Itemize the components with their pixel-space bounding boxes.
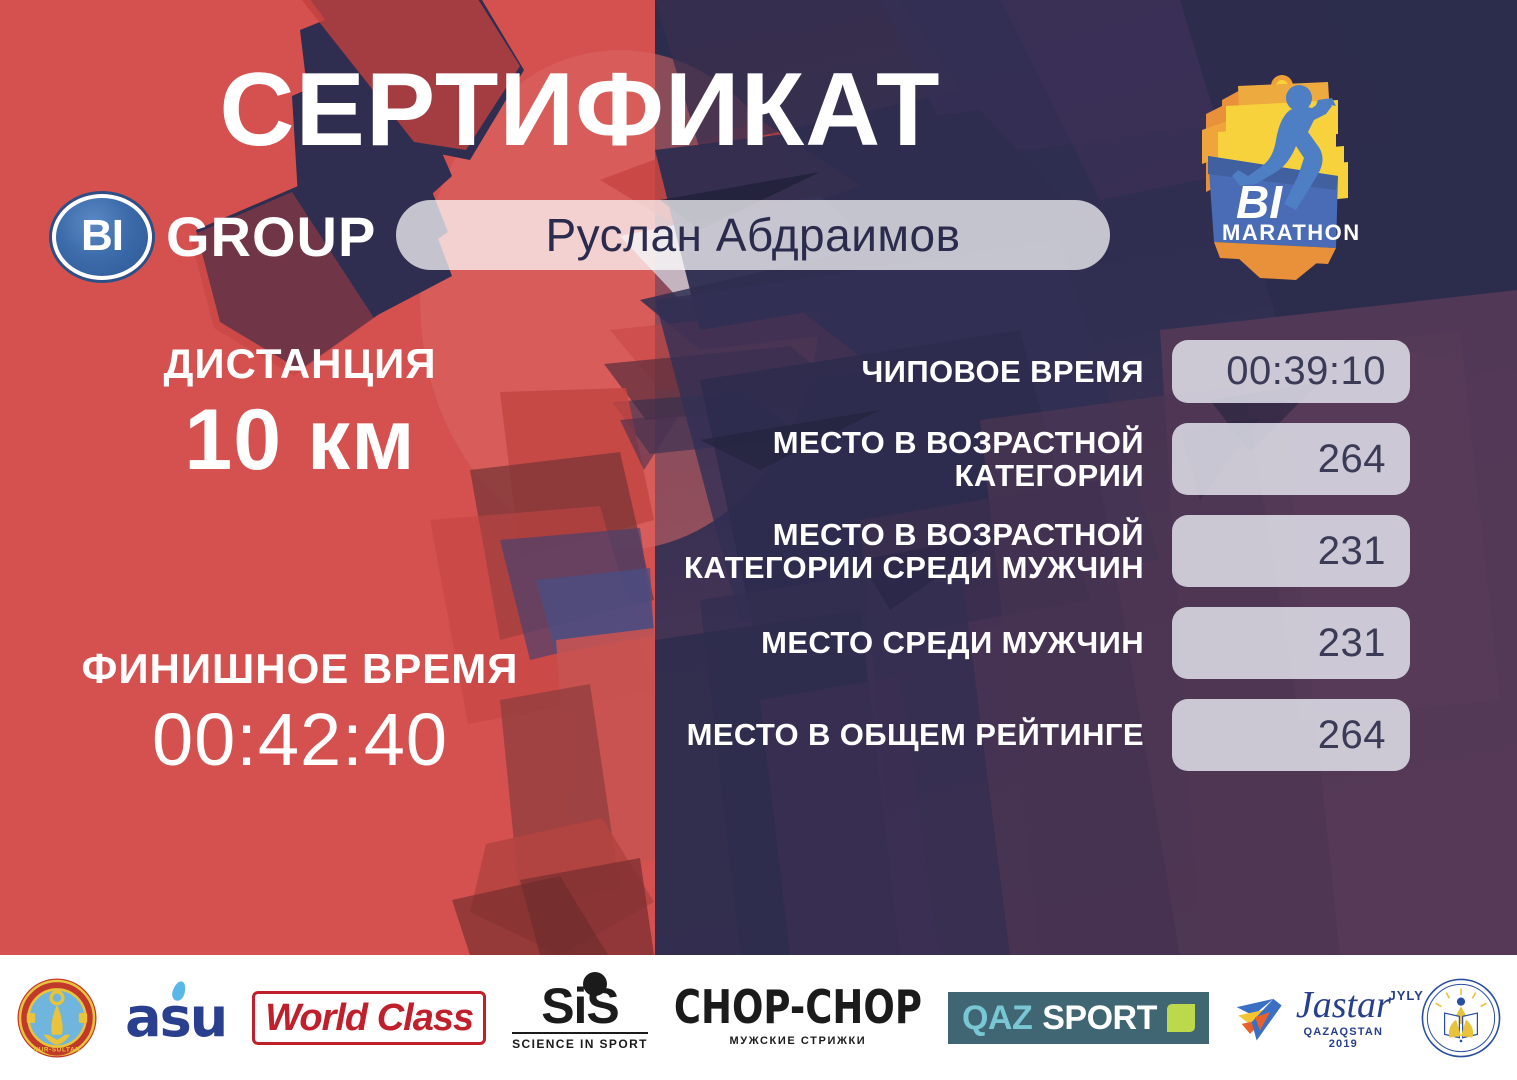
bi-marathon-logo: BI MARATHON xyxy=(1178,58,1393,298)
sis-runner-icon xyxy=(583,972,607,996)
chip-time-label: ЧИПОВОЕ ВРЕМЯ xyxy=(600,355,1172,388)
jastar-wordmark: Jastar xyxy=(1293,986,1394,1024)
participant-name-bar: Руслан Абдраимов xyxy=(396,200,1110,270)
chip-time-box: 00:39:10 xyxy=(1172,340,1410,403)
jastar-text: Jastar QAZAQSTAN 2019 JYLY xyxy=(1293,986,1394,1050)
distance-label: ДИСТАНЦИЯ xyxy=(40,340,560,387)
sis-logo-mark: SiS xyxy=(512,984,648,1029)
sponsor-nur-sultan: NUR-SULTAN xyxy=(15,968,99,1068)
sponsor-jastar-jyly: Jastar QAZAQSTAN 2019 JYLY xyxy=(1235,968,1394,1068)
overall-place-label: МЕСТО В ОБЩЕМ РЕЙТИНГЕ xyxy=(600,718,1172,751)
chop-chop-logo: CHOP-CHOP МУЖСКИЕ СТРИЖКИ xyxy=(674,989,922,1047)
result-row: ЧИПОВОЕ ВРЕМЯ 00:39:10 xyxy=(600,340,1410,403)
chop-chop-logo-tagline: МУЖСКИЕ СТРИЖКИ xyxy=(674,1035,922,1047)
overall-place-value: 264 xyxy=(1318,713,1386,758)
age-category-men-place-label: МЕСТО В ВОЗРАСТНОЙ КАТЕГОРИИ СРЕДИ МУЖЧИ… xyxy=(600,518,1172,584)
age-category-place-value: 264 xyxy=(1318,437,1386,482)
qazsport-logo-text-1: QAZ xyxy=(962,1001,1032,1035)
participant-name: Руслан Абдраимов xyxy=(545,208,960,262)
result-row: МЕСТО В ОБЩЕМ РЕЙТИНГЕ 264 xyxy=(600,699,1410,771)
age-category-men-place-value: 231 xyxy=(1318,529,1386,574)
bi-group-logo-text: GROUP xyxy=(166,209,376,265)
page-title: СЕРТИФИКАТ xyxy=(0,58,1160,162)
finish-time-value: 00:42:40 xyxy=(40,699,560,780)
result-row: МЕСТО В ВОЗРАСТНОЙ КАТЕГОРИИ 264 xyxy=(600,423,1410,495)
results-list: ЧИПОВОЕ ВРЕМЯ 00:39:10 МЕСТО В ВОЗРАСТНО… xyxy=(600,340,1410,771)
sis-logo: SiS SCIENCE IN SPORT xyxy=(512,984,648,1051)
sponsor-asu: asu xyxy=(125,968,226,1068)
bi-marathon-logo-art: BI MARATHON xyxy=(1178,58,1393,298)
finish-time-block: ФИНИШНОЕ ВРЕМЯ 00:42:40 xyxy=(40,645,560,781)
jastar-subtitle: QAZAQSTAN 2019 xyxy=(1293,1026,1394,1050)
sponsor-chop-chop: CHOP-CHOP МУЖСКИЕ СТРИЖКИ xyxy=(674,968,922,1068)
sponsor-qazsport: QAZ SPORT xyxy=(948,968,1209,1068)
jastar-jyly-text: JYLY xyxy=(1389,988,1424,1003)
chop-chop-logo-mark: CHOP-CHOP xyxy=(674,984,922,1030)
jastar-bird-icon xyxy=(1235,991,1285,1045)
age-category-men-place-box: 231 xyxy=(1172,515,1410,587)
svg-text:NUR-SULTAN: NUR-SULTAN xyxy=(34,1046,81,1053)
bi-logo-mark-text: BI xyxy=(81,214,123,261)
qazsport-square-icon xyxy=(1167,1004,1195,1032)
distance-block: ДИСТАНЦИЯ 10 км xyxy=(40,340,560,488)
age-category-place-label: МЕСТО В ВОЗРАСТНОЙ КАТЕГОРИИ xyxy=(600,426,1172,492)
sis-logo-tagline: SCIENCE IN SPORT xyxy=(512,1032,648,1051)
age-category-place-box: 264 xyxy=(1172,423,1410,495)
nur-sultan-emblem-icon: NUR-SULTAN xyxy=(15,976,99,1060)
certificate-page: СЕРТИФИКАТ BI GROUP Руслан Абдраимов xyxy=(0,0,1517,1080)
qazsport-logo-text-2: SPORT xyxy=(1042,1001,1157,1035)
sponsor-science-in-sport: SiS SCIENCE IN SPORT xyxy=(512,968,648,1068)
chip-time-value: 00:39:10 xyxy=(1226,349,1386,394)
bi-logo-mark: BI xyxy=(52,194,152,280)
finish-time-label: ФИНИШНОЕ ВРЕМЯ xyxy=(40,645,560,693)
svg-text:MARATHON: MARATHON xyxy=(1222,220,1361,245)
result-row: МЕСТО СРЕДИ МУЖЧИН 231 xyxy=(600,607,1410,679)
ministry-emblem-icon xyxy=(1420,977,1502,1059)
bi-group-logo: BI GROUP xyxy=(52,194,376,280)
overall-place-box: 264 xyxy=(1172,699,1410,771)
men-place-label: МЕСТО СРЕДИ МУЖЧИН xyxy=(600,626,1172,659)
result-row: МЕСТО В ВОЗРАСТНОЙ КАТЕГОРИИ СРЕДИ МУЖЧИ… xyxy=(600,515,1410,587)
world-class-logo: World Class xyxy=(252,991,486,1045)
qazsport-logo: QAZ SPORT xyxy=(948,992,1209,1044)
distance-value: 10 км xyxy=(40,393,560,488)
sponsor-world-class: World Class xyxy=(252,968,486,1068)
sponsor-ministry xyxy=(1420,968,1502,1068)
jastar-logo: Jastar QAZAQSTAN 2019 JYLY xyxy=(1235,986,1394,1050)
men-place-value: 231 xyxy=(1318,621,1386,666)
asu-logo: asu xyxy=(125,991,226,1045)
sponsor-bar: NUR-SULTAN asu World Class SiS SCIENCE I… xyxy=(0,955,1517,1080)
men-place-box: 231 xyxy=(1172,607,1410,679)
